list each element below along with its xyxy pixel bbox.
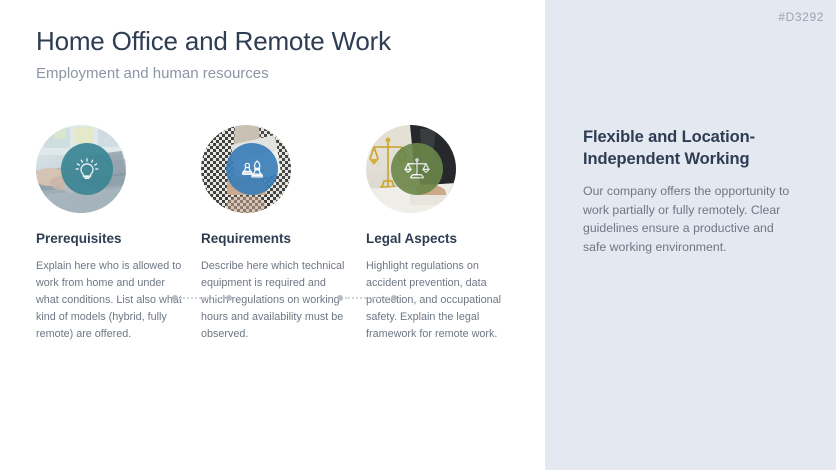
column-heading-prerequisites: Prerequisites [36,231,186,246]
overlay-circle-legal-aspects [391,143,443,195]
connector-dot-start [337,295,343,301]
columns-container: Prerequisites Explain here who is allowe… [36,125,526,355]
connector-dot-end [226,295,232,301]
slide: #D3292 Flexible and Location-Independent… [0,0,836,470]
overlay-circle-prerequisites [61,143,113,195]
column-heading-legal-aspects: Legal Aspects [366,231,516,246]
column-heading-requirements: Requirements [201,231,351,246]
column-legal-aspects: Legal Aspects Highlight regulations on a… [366,125,516,343]
side-panel: #D3292 Flexible and Location-Independent… [545,0,836,470]
connector-2 [337,294,397,302]
side-panel-heading: Flexible and Location-Independent Workin… [583,127,798,171]
page-subtitle: Employment and human resources [36,65,269,82]
chess-pieces-icon [237,154,267,184]
connector-line [345,297,389,299]
lightbulb-icon [72,154,102,184]
scales-of-justice-icon [402,154,432,184]
page-title: Home Office and Remote Work [36,26,391,57]
icon-circle-requirements [201,125,293,213]
column-requirements: Requirements Describe here which technic… [201,125,351,343]
connector-line [180,297,224,299]
overlay-circle-requirements [226,143,278,195]
icon-circle-prerequisites [36,125,128,213]
slide-code: #D3292 [778,10,824,24]
icon-circle-legal-aspects [366,125,458,213]
connector-1 [172,294,232,302]
connector-dot-start [172,295,178,301]
side-panel-body: Our company offers the opportunity to wo… [583,182,798,257]
connector-dot-end [391,295,397,301]
column-prerequisites: Prerequisites Explain here who is allowe… [36,125,186,343]
column-body-prerequisites: Explain here who is allowed to work from… [36,258,186,343]
